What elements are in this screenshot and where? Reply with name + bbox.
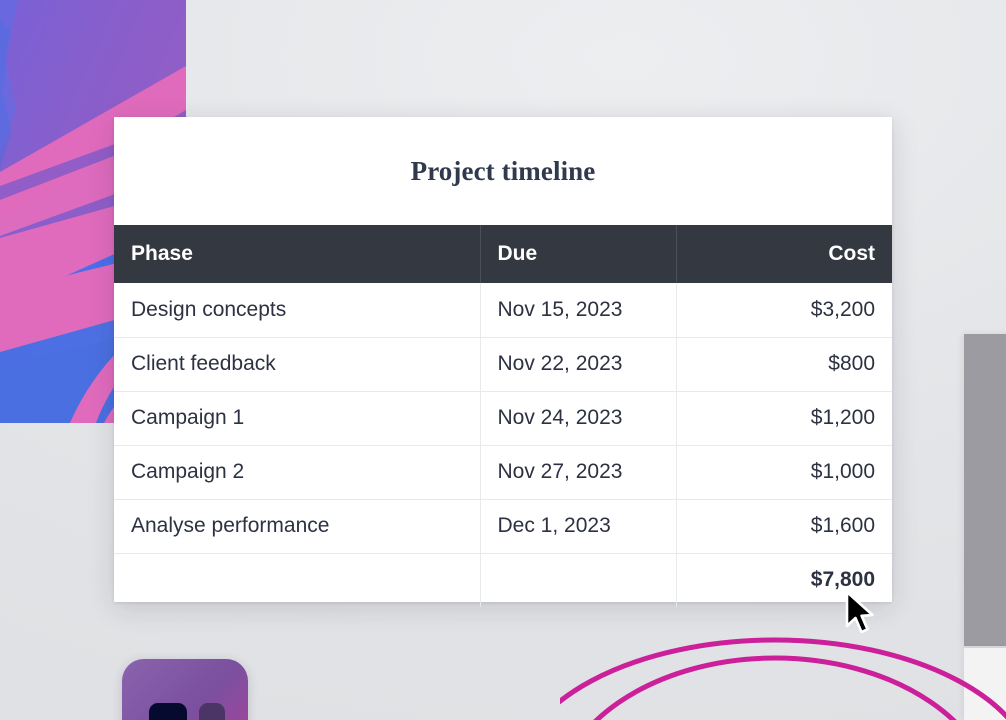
table-header-row: Phase Due Cost — [114, 225, 892, 283]
cell-due: Nov 22, 2023 — [480, 337, 676, 391]
total-cell-cost: $7,800 — [676, 553, 892, 607]
table-header: Phase Due Cost — [114, 225, 892, 283]
cell-phase: Campaign 2 — [114, 445, 480, 499]
column-header-cost[interactable]: Cost — [676, 225, 892, 283]
cell-phase: Client feedback — [114, 337, 480, 391]
app-tile — [122, 659, 248, 720]
cell-phase: Design concepts — [114, 283, 480, 337]
cell-cost: $1,200 — [676, 391, 892, 445]
cell-cost: $3,200 — [676, 283, 892, 337]
right-gray-panel — [964, 334, 1006, 646]
cell-due: Nov 27, 2023 — [480, 445, 676, 499]
project-timeline-table: Phase Due Cost Design conceptsNov 15, 20… — [114, 225, 892, 607]
table-body: Design conceptsNov 15, 2023$3,200Client … — [114, 283, 892, 607]
total-cell-phase — [114, 553, 480, 607]
table-row: Analyse performanceDec 1, 2023$1,600 — [114, 499, 892, 553]
cell-due: Nov 15, 2023 — [480, 283, 676, 337]
cell-due: Dec 1, 2023 — [480, 499, 676, 553]
app-tile-square-light — [199, 703, 225, 720]
right-white-panel — [964, 648, 1006, 720]
cell-cost: $1,600 — [676, 499, 892, 553]
cell-phase: Campaign 1 — [114, 391, 480, 445]
app-tile-square-dark — [149, 703, 187, 720]
column-header-phase[interactable]: Phase — [114, 225, 480, 283]
project-timeline-card: Project timeline Phase Due Cost Design c… — [114, 117, 892, 602]
column-header-due[interactable]: Due — [480, 225, 676, 283]
table-row: Design conceptsNov 15, 2023$3,200 — [114, 283, 892, 337]
table-total-row: $7,800 — [114, 553, 892, 607]
total-cell-due — [480, 553, 676, 607]
cell-cost: $800 — [676, 337, 892, 391]
table-row: Campaign 2Nov 27, 2023$1,000 — [114, 445, 892, 499]
cell-due: Nov 24, 2023 — [480, 391, 676, 445]
table-row: Client feedbackNov 22, 2023$800 — [114, 337, 892, 391]
page-title: Project timeline — [114, 117, 892, 225]
table-row: Campaign 1Nov 24, 2023$1,200 — [114, 391, 892, 445]
cell-cost: $1,000 — [676, 445, 892, 499]
cell-phase: Analyse performance — [114, 499, 480, 553]
